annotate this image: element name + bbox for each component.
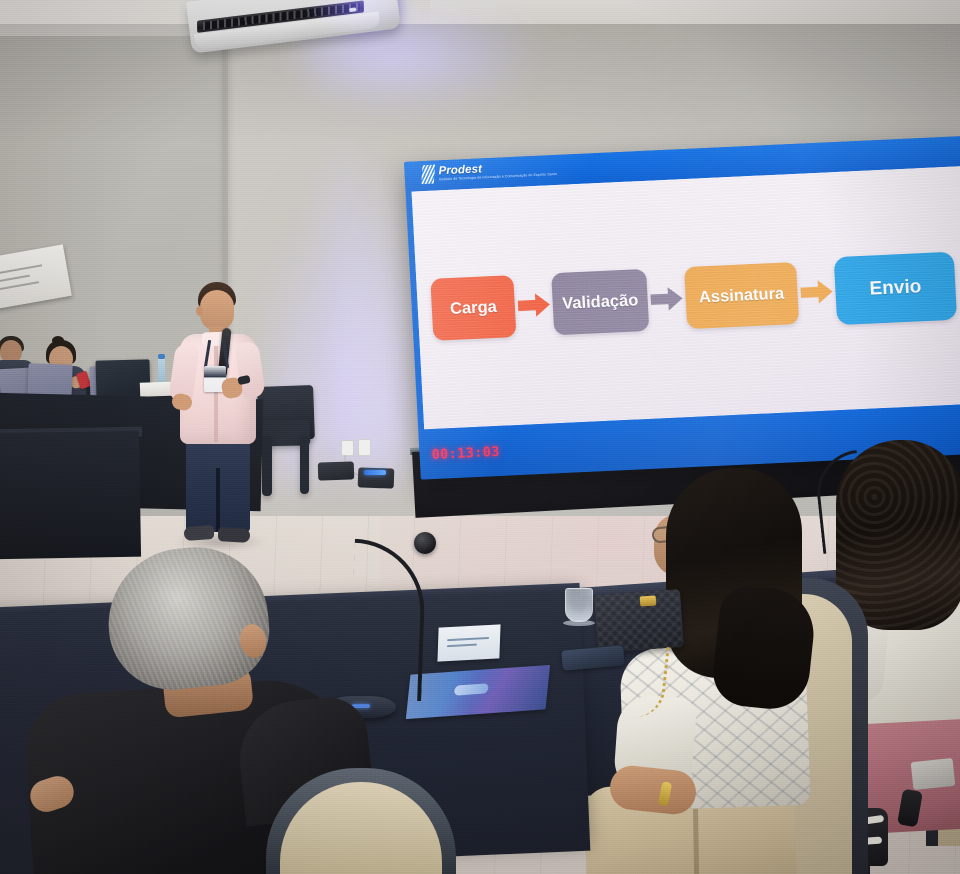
person-attendee-1 [630,468,880,874]
flow-arrow-icon-3 [800,278,833,305]
flow-step-validacao: Validação [551,269,649,335]
chair-foreground [266,768,456,874]
presenter-shoe [218,527,251,543]
wall-socket-icon [341,440,354,456]
conference-room-photo: Prodest Instituto de Tecnologia da Infor… [0,0,960,874]
person-presenter [172,282,264,544]
microphone-capsule-icon [414,532,436,554]
water-bottle-cap [158,354,165,359]
flow-step-carga: Carga [430,275,516,341]
wall-socket-icon [358,439,371,456]
staff-desk-side [0,431,141,560]
flow-arrow-icon-1 [517,291,550,318]
flow-arrow-icon-2 [650,285,683,312]
power-box-led [364,470,386,475]
slide-canvas: Carga Validação Assinatura Envio [412,166,960,429]
name-card [437,624,500,661]
presenter-shoe [184,525,215,541]
water-glass-icon [565,588,593,622]
water-bottle-icon [158,358,165,384]
equipment-box [911,758,956,790]
prodest-logo-mark-icon [420,165,436,185]
led-wall-screen[interactable]: Prodest Instituto de Tecnologia da Infor… [404,136,960,479]
floor-power-box [318,461,355,480]
presenter-head [200,290,234,330]
flow-step-assinatura: Assinatura [684,262,799,329]
process-flow-diagram: Carga Validação Assinatura Envio [412,166,960,429]
chair-leg [300,436,309,494]
panelist-hair [101,540,275,696]
countdown-timer: 00:13:03 [431,444,500,463]
flow-step-envio: Envio [834,252,957,325]
handbag-clasp-icon [640,595,657,606]
